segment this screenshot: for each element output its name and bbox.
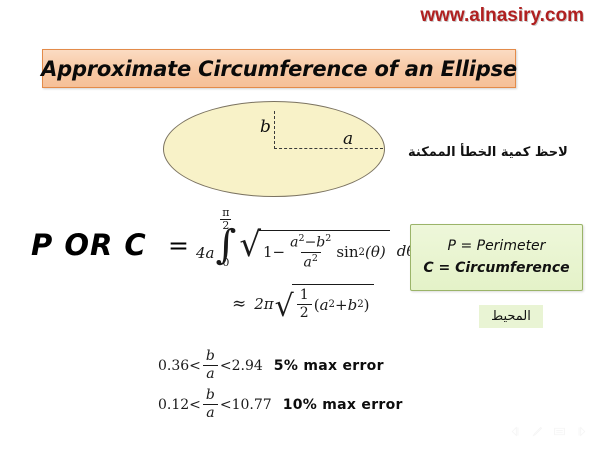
integral-lower-limit: 0: [222, 257, 229, 268]
one-half-denominator: 2: [297, 304, 312, 321]
error-bound-row: 0.36< b a <2.94 5% max error: [158, 349, 384, 383]
plus-sign: +: [335, 296, 348, 314]
legend-box: P = Perimeter C = Circumference: [410, 224, 583, 291]
next-icon[interactable]: [575, 425, 588, 438]
term-a: a: [320, 296, 329, 314]
pen-icon[interactable]: [531, 425, 544, 438]
slideshow-toolbar[interactable]: [509, 425, 588, 438]
title-banner: Approximate Circumference of an Ellipse: [42, 49, 516, 88]
ratio-denominator: a: [203, 404, 217, 421]
previous-icon[interactable]: [509, 425, 522, 438]
arabic-circumference-tag: المحيط: [479, 305, 543, 328]
max-error-label: 10% max error: [283, 397, 403, 413]
approximation-formula: ≈ 2π √ 1 2 (a2+b2): [232, 284, 374, 324]
axis-ratio-fraction: b a: [203, 388, 218, 422]
page-title: Approximate Circumference of an Ellipse: [41, 57, 517, 81]
semi-major-axis-label: a: [343, 129, 353, 149]
radical-icon: √: [239, 232, 261, 275]
ratio-numerator: b: [203, 349, 218, 365]
numerator-a: a: [290, 235, 298, 251]
bound-upper-limit: <10.77: [220, 397, 272, 413]
eccentricity-fraction: a2−b2 a2: [287, 234, 334, 271]
radicand: 1− a2−b2 a2 sin2(θ): [259, 230, 390, 273]
bound-lower-limit: 0.12<: [158, 397, 201, 413]
equals-sign: =: [168, 231, 189, 260]
error-bound-row: 0.12< b a <10.77 10% max error: [158, 388, 403, 422]
fraction-denominator: a2: [301, 252, 321, 271]
integral-formula: 4a π 2 ∫ 0 √ 1− a2−b2 a2 sin2(θ) dθ: [196, 207, 415, 268]
axis-ratio-fraction: b a: [203, 349, 218, 383]
semi-major-axis-line: [274, 148, 383, 149]
radical-icon-approx: √: [275, 295, 294, 319]
integral-operator: π 2 ∫ 0: [216, 207, 237, 268]
approximately-equal-sign: ≈: [232, 294, 246, 314]
denominator-a: a: [304, 255, 312, 271]
menu-icon[interactable]: [553, 425, 566, 438]
bound-upper-limit: <2.94: [220, 358, 263, 374]
arabic-error-note: لاحظ كمية الخطأ الممكنة: [408, 145, 568, 160]
ellipse-diagram: b a: [163, 101, 385, 197]
ratio-denominator: a: [203, 365, 217, 382]
radicand-approx: 1 2 (a2+b2): [292, 284, 374, 324]
legend-perimeter: P = Perimeter: [448, 236, 546, 258]
sine-function: sin: [336, 243, 358, 261]
integral-coefficient: 4a: [196, 244, 215, 262]
numerator-minus: −: [305, 235, 317, 251]
integral-upper-numerator: π: [220, 207, 231, 219]
radicand-one-minus: 1−: [263, 243, 285, 261]
sine-argument: (θ): [365, 243, 386, 261]
one-half-numerator: 1: [297, 288, 312, 304]
denominator-exponent: 2: [312, 253, 318, 264]
max-error-label: 5% max error: [274, 358, 384, 374]
semi-minor-axis-line: [274, 111, 275, 149]
close-parenthesis: ): [364, 296, 370, 314]
ratio-numerator: b: [203, 388, 218, 404]
legend-circumference: C = Circumference: [423, 258, 569, 280]
site-url: www.alnasiry.com: [420, 5, 584, 27]
fraction-numerator: a2−b2: [287, 234, 334, 252]
square-root-expression: √ 1− a2−b2 a2 sin2(θ): [239, 230, 389, 273]
one-half-fraction: 1 2: [297, 288, 312, 322]
term-b: b: [348, 296, 358, 314]
two-pi-coefficient: 2π: [254, 295, 273, 313]
numerator-b-exponent: 2: [325, 233, 331, 244]
formula-left-hand-side: P OR C: [31, 228, 147, 262]
numerator-b: b: [316, 235, 325, 251]
bound-lower-limit: 0.36<: [158, 358, 201, 374]
semi-minor-axis-label: b: [260, 117, 271, 137]
